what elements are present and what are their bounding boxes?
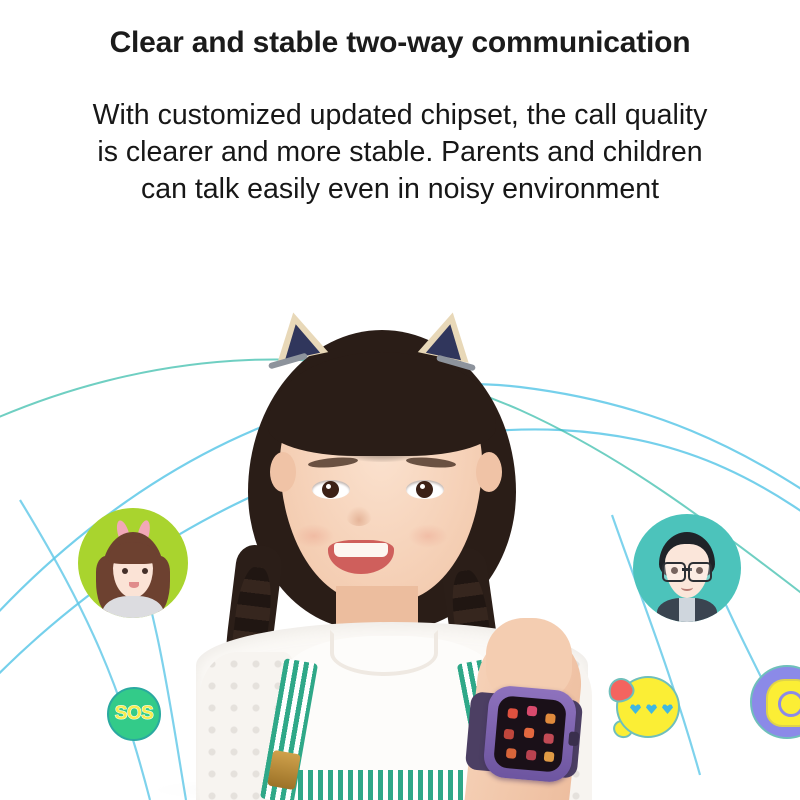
avatar-eye-left	[122, 568, 128, 574]
cheek-right	[408, 524, 448, 548]
eye-right	[406, 480, 444, 499]
glasses-icon	[662, 562, 712, 578]
sos-label: SOS	[115, 703, 154, 725]
chat-badge-icon[interactable]	[608, 670, 680, 742]
overall-bib	[278, 770, 494, 800]
watch-screen	[493, 695, 567, 773]
smartwatch	[482, 684, 578, 783]
avatar-contact-mother[interactable]	[78, 508, 188, 618]
voice-badge-inner-ring	[778, 691, 800, 717]
nose	[346, 506, 372, 526]
collar	[330, 630, 438, 676]
avatar-contact-father[interactable]	[633, 514, 741, 622]
avatar-eye-right	[142, 568, 148, 574]
promo-banner: Clear and stable two-way communication W…	[0, 0, 800, 800]
cheek-left	[294, 524, 334, 548]
avatar-mouth	[681, 584, 693, 591]
watch-crown-button[interactable]	[568, 731, 579, 746]
description-text: With customized updated chipset, the cal…	[38, 97, 762, 208]
page-title: Clear and stable two-way communication	[0, 26, 800, 60]
description-line-1: With customized updated chipset, the cal…	[38, 97, 762, 134]
description-line-2: is clearer and more stable. Parents and …	[38, 134, 762, 171]
ear-right	[476, 452, 502, 492]
ear-left	[270, 452, 296, 492]
avatar-mouth	[129, 582, 139, 588]
child-photo	[150, 300, 620, 800]
eye-left	[312, 480, 350, 499]
avatar-shoulders	[102, 596, 164, 618]
description-line-3: can talk easily even in noisy environmen…	[38, 171, 762, 208]
avatar-shoulders	[657, 598, 717, 622]
illustration-stage: SOS	[0, 215, 800, 800]
sos-badge[interactable]: SOS	[107, 687, 161, 741]
